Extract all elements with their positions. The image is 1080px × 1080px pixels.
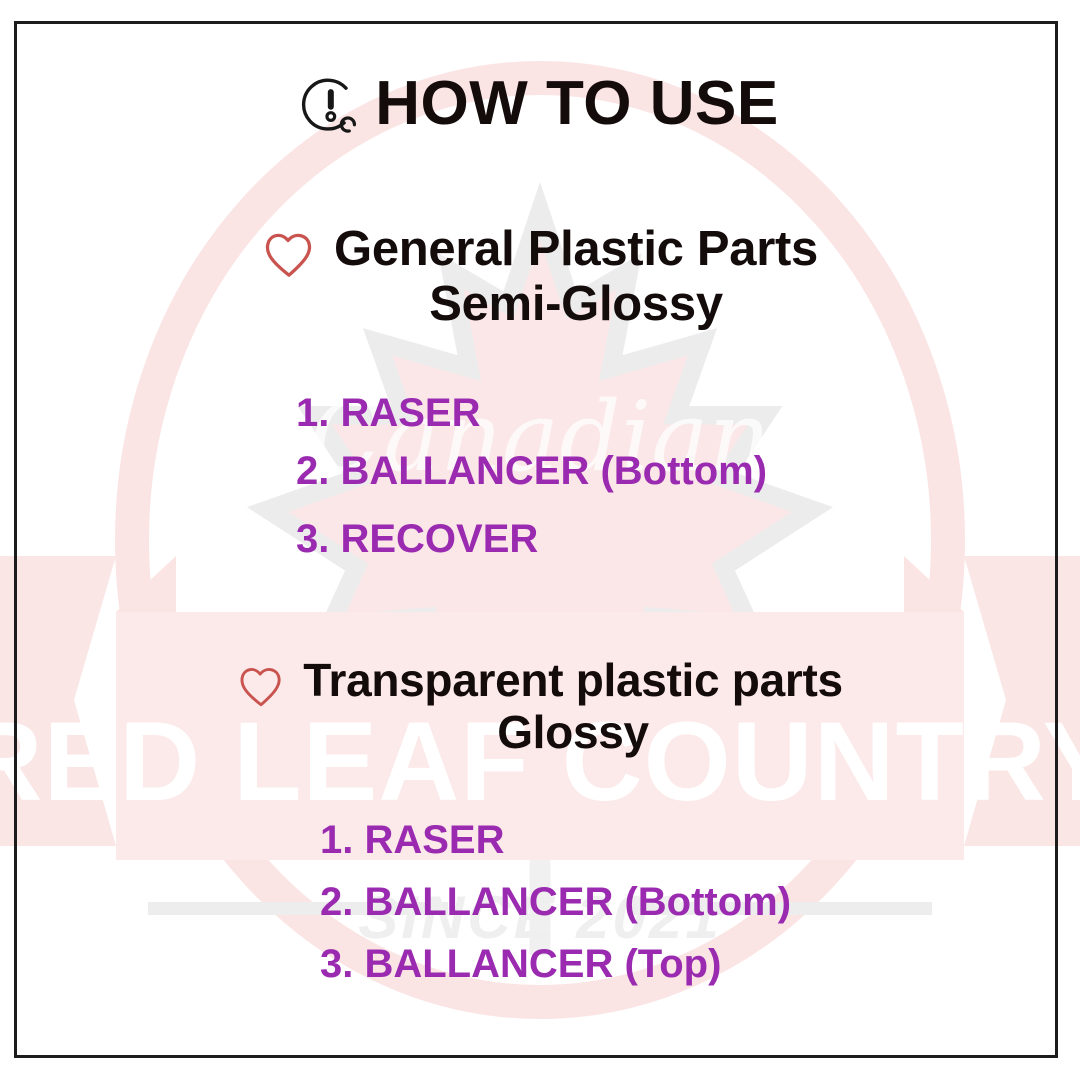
section-2-step-list: 1. RASER 2. BALLANCER (Bottom) 3. BALLAN… <box>320 820 791 984</box>
list-item: 1. RASER <box>296 393 767 433</box>
page-title-row: HOW TO USE <box>0 72 1080 136</box>
section-general-plastic: General Plastic Parts Semi-Glossy <box>0 222 1080 332</box>
section-1-title: General Plastic Parts Semi-Glossy <box>334 222 818 332</box>
page-title: HOW TO USE <box>375 73 778 135</box>
section-2-title-line1: Transparent plastic parts <box>303 655 843 707</box>
list-item: 2. BALLANCER (Bottom) <box>320 882 791 922</box>
heart-outline-icon <box>262 228 316 280</box>
section-2-title-line2: Glossy <box>303 707 843 759</box>
list-item: 2. BALLANCER (Bottom) <box>296 451 767 491</box>
list-item: 3. RECOVER <box>296 519 767 559</box>
list-item: 1. RASER <box>320 820 791 860</box>
section-2-title: Transparent plastic parts Glossy <box>303 655 843 758</box>
poster-content: HOW TO USE General Plastic Parts Semi-Gl… <box>0 0 1080 1080</box>
section-1-heading: General Plastic Parts Semi-Glossy <box>0 222 1080 332</box>
exclamation-circle-icon <box>301 76 361 136</box>
section-1-title-line1: General Plastic Parts <box>334 222 818 277</box>
section-2-heading: Transparent plastic parts Glossy <box>0 655 1080 758</box>
section-1-title-line2: Semi-Glossy <box>334 277 818 332</box>
heart-outline-icon <box>237 663 285 709</box>
section-transparent-plastic: Transparent plastic parts Glossy <box>0 655 1080 758</box>
section-1-step-list: 1. RASER 2. BALLANCER (Bottom) 3. RECOVE… <box>296 393 767 559</box>
list-item: 3. BALLANCER (Top) <box>320 944 791 984</box>
poster-canvas: Canadian RED LEAF COUNTRY SINCE 2021 <box>0 0 1080 1080</box>
